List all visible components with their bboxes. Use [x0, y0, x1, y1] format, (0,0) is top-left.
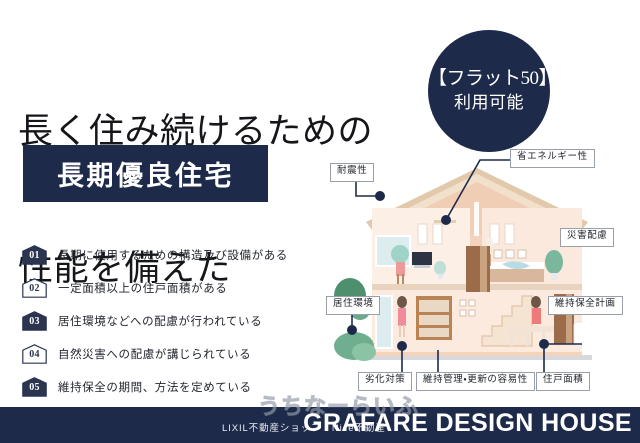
house-badge-icon: 05: [22, 377, 47, 397]
title-plate-label: 長期優良住宅: [57, 154, 234, 193]
callout-jukomenseki: 住戸面積: [536, 372, 590, 391]
list-item-label: 長期に使用するための構造及び設備がある: [58, 247, 288, 263]
list-item: 05 維持保全の期間、方法を定めている: [22, 370, 302, 403]
callout-saigai: 災害配慮: [560, 228, 614, 247]
list-item: 02 一定面積以上の住戸面積がある: [22, 271, 302, 304]
callout-taishinsei: 耐震性: [330, 163, 374, 182]
list-item: 01 長期に使用するための構造及び設備がある: [22, 238, 302, 271]
list-item-number: 04: [22, 344, 47, 364]
callout-ijihozen: 維持保全計画: [548, 296, 623, 315]
poster-canvas: 長く住み続けるための 性能を備えた 長期優良住宅 【フラット50】 利用可能 0…: [0, 0, 640, 443]
list-item: 03 居住環境などへの配慮が行われている: [22, 304, 302, 337]
footer-brand-name: GRAFARE DESIGN HOUSE: [303, 409, 632, 438]
list-item-label: 維持保全の期間、方法を定めている: [58, 379, 252, 395]
list-item-label: 居住環境などへの配慮が行われている: [58, 313, 262, 329]
list-item-number: 02: [22, 278, 47, 298]
house-badge-icon: 01: [22, 245, 47, 265]
house-badge-icon: 03: [22, 311, 47, 331]
list-item: 04 自然災害への配慮が講じられている: [22, 337, 302, 370]
house-badge-icon: 04: [22, 344, 47, 364]
flat50-badge-line-2: 利用可能: [454, 92, 524, 114]
house-cutaway-illustration: 耐震性 省エネルギー性 災害配慮 居住環境 維持保全計画 劣化対策 維持管理・更…: [330, 150, 640, 400]
requirement-list: 01 長期に使用するための構造及び設備がある 02 一定面積以上の住戸面積がある…: [22, 238, 302, 403]
callout-ijikanri: 維持管理・更新の容易性: [416, 372, 535, 391]
callout-rekka: 劣化対策: [358, 372, 412, 391]
list-item-number: 01: [22, 245, 47, 265]
list-item-number: 05: [22, 377, 47, 397]
title-plate: 長期優良住宅: [23, 145, 268, 202]
flat50-badge-line-1: 【フラット50】: [428, 68, 550, 90]
list-item-label: 自然災害への配慮が講じられている: [58, 346, 251, 362]
house-badge-icon: 02: [22, 278, 47, 298]
callout-kyojukankyo: 居住環境: [326, 296, 380, 315]
callout-shoenergy: 省エネルギー性: [510, 149, 595, 168]
list-item-number: 03: [22, 311, 47, 331]
flat50-badge: 【フラット50】 利用可能: [428, 30, 550, 152]
list-item-label: 一定面積以上の住戸面積がある: [58, 280, 227, 296]
